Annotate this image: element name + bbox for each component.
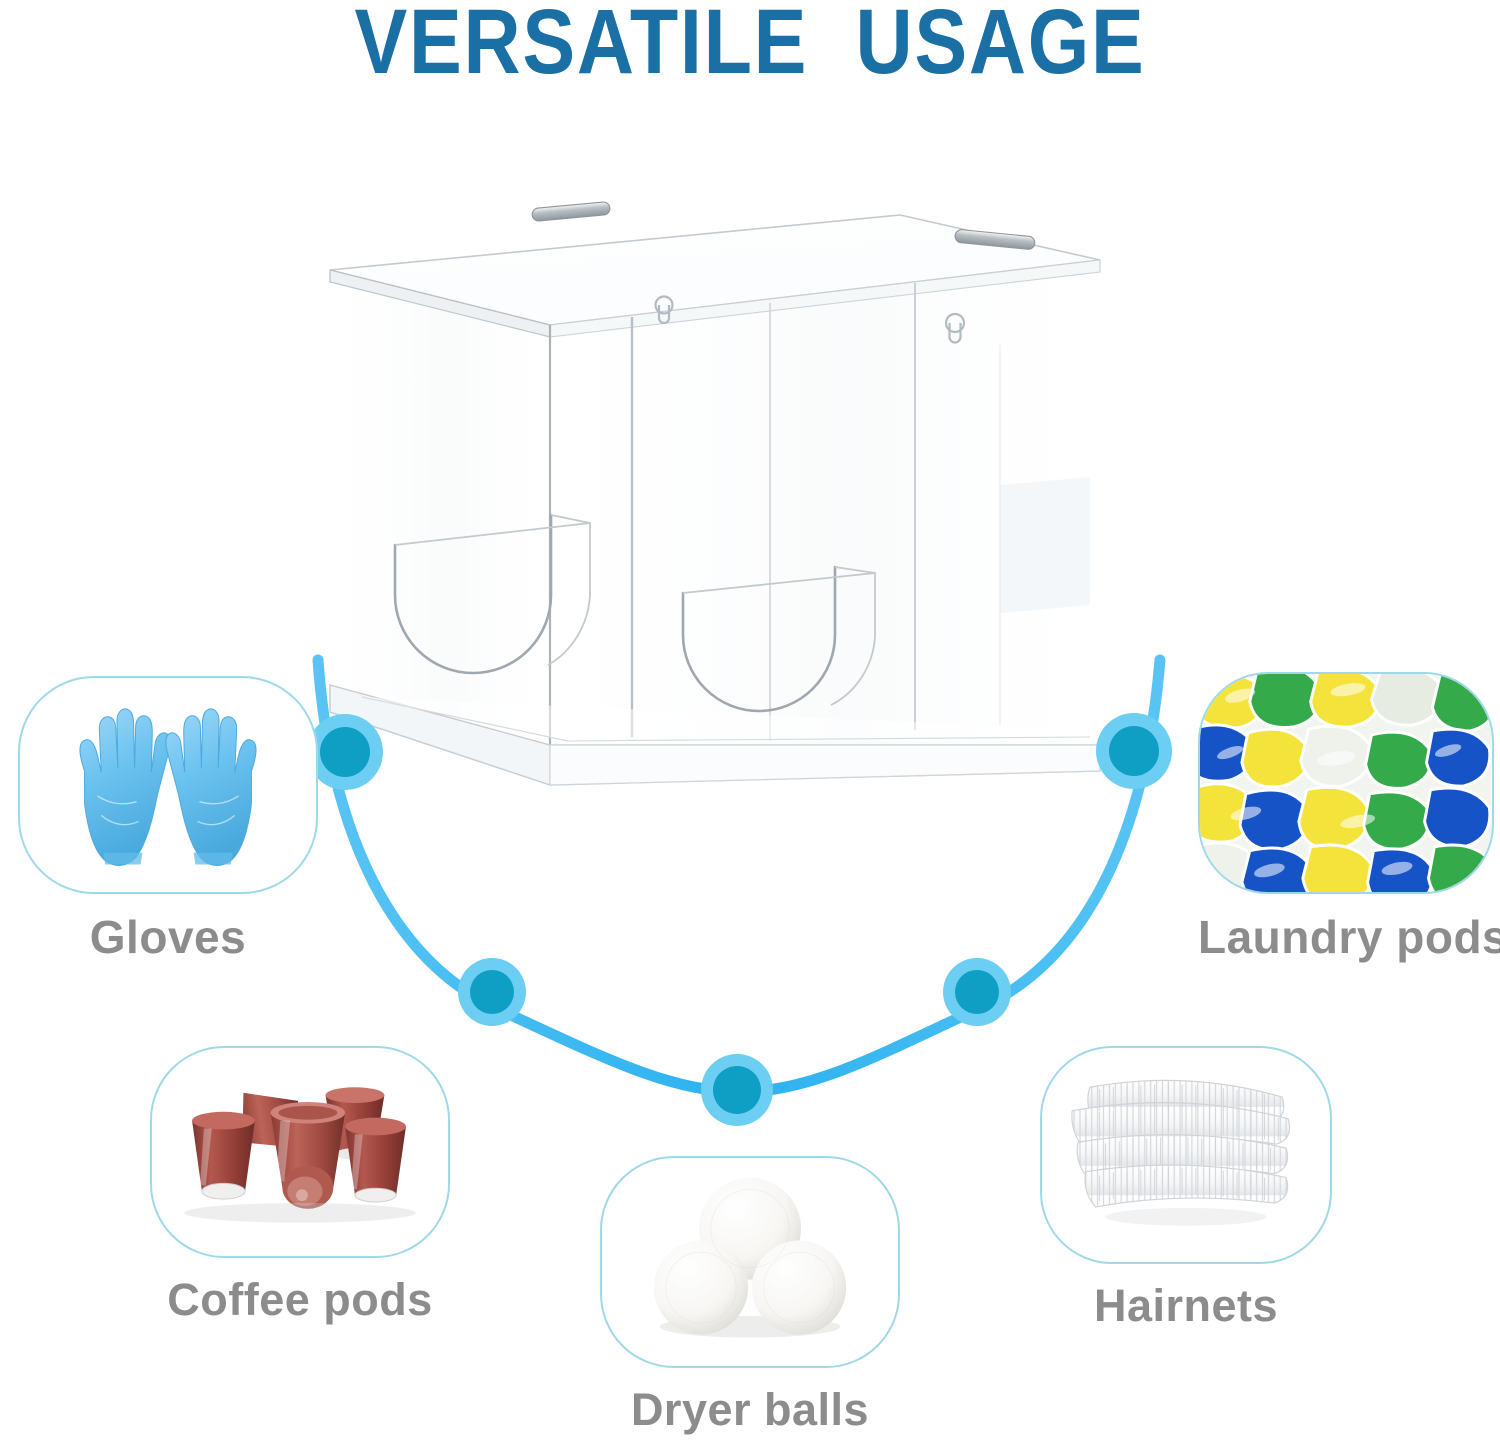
use-case-label-coffee-pods: Coffee pods: [150, 1274, 450, 1326]
node-dryer: [701, 1054, 773, 1126]
node-coffee: [458, 958, 526, 1026]
product-image-acrylic-dispenser: [300, 185, 1130, 805]
dryer-ball-left: [654, 1240, 748, 1334]
coffee-pods-icon: [152, 1048, 448, 1256]
use-case-card-frame: [1040, 1046, 1332, 1264]
page-title: VERSATILE USAGE: [105, 0, 1395, 91]
use-case-card-frame: [150, 1046, 450, 1258]
use-case-laundry-pods: Laundry pods: [1198, 672, 1494, 964]
lid-handle: [532, 201, 611, 221]
glove-right: [166, 709, 256, 866]
use-case-label-hairnets: Hairnets: [1040, 1280, 1332, 1332]
infographic-canvas: VERSATILE USAGE: [0, 0, 1500, 1443]
use-case-dryer-balls: Dryer balls: [600, 1156, 900, 1436]
use-case-gloves: Gloves: [18, 676, 318, 964]
gloves-icon: [20, 678, 316, 892]
use-case-label-dryer-balls: Dryer balls: [600, 1384, 900, 1436]
glove-left: [80, 709, 170, 866]
dryer-balls-icon: [602, 1158, 898, 1366]
laundry-pods-icon: [1200, 674, 1492, 892]
use-case-label-laundry-pods: Laundry pods: [1198, 910, 1494, 964]
coffee-capsule-front-left: [192, 1112, 255, 1199]
use-case-card-frame: [18, 676, 318, 894]
node-hairnets: [943, 958, 1011, 1026]
use-case-label-gloves: Gloves: [18, 910, 318, 964]
use-case-card-frame: [1198, 672, 1494, 894]
dryer-ball-right: [752, 1240, 846, 1334]
use-case-coffee-pods: Coffee pods: [150, 1046, 450, 1326]
hairnets-icon: [1042, 1048, 1330, 1262]
use-case-hairnets: Hairnets: [1040, 1046, 1332, 1332]
use-case-card-frame: [600, 1156, 900, 1368]
